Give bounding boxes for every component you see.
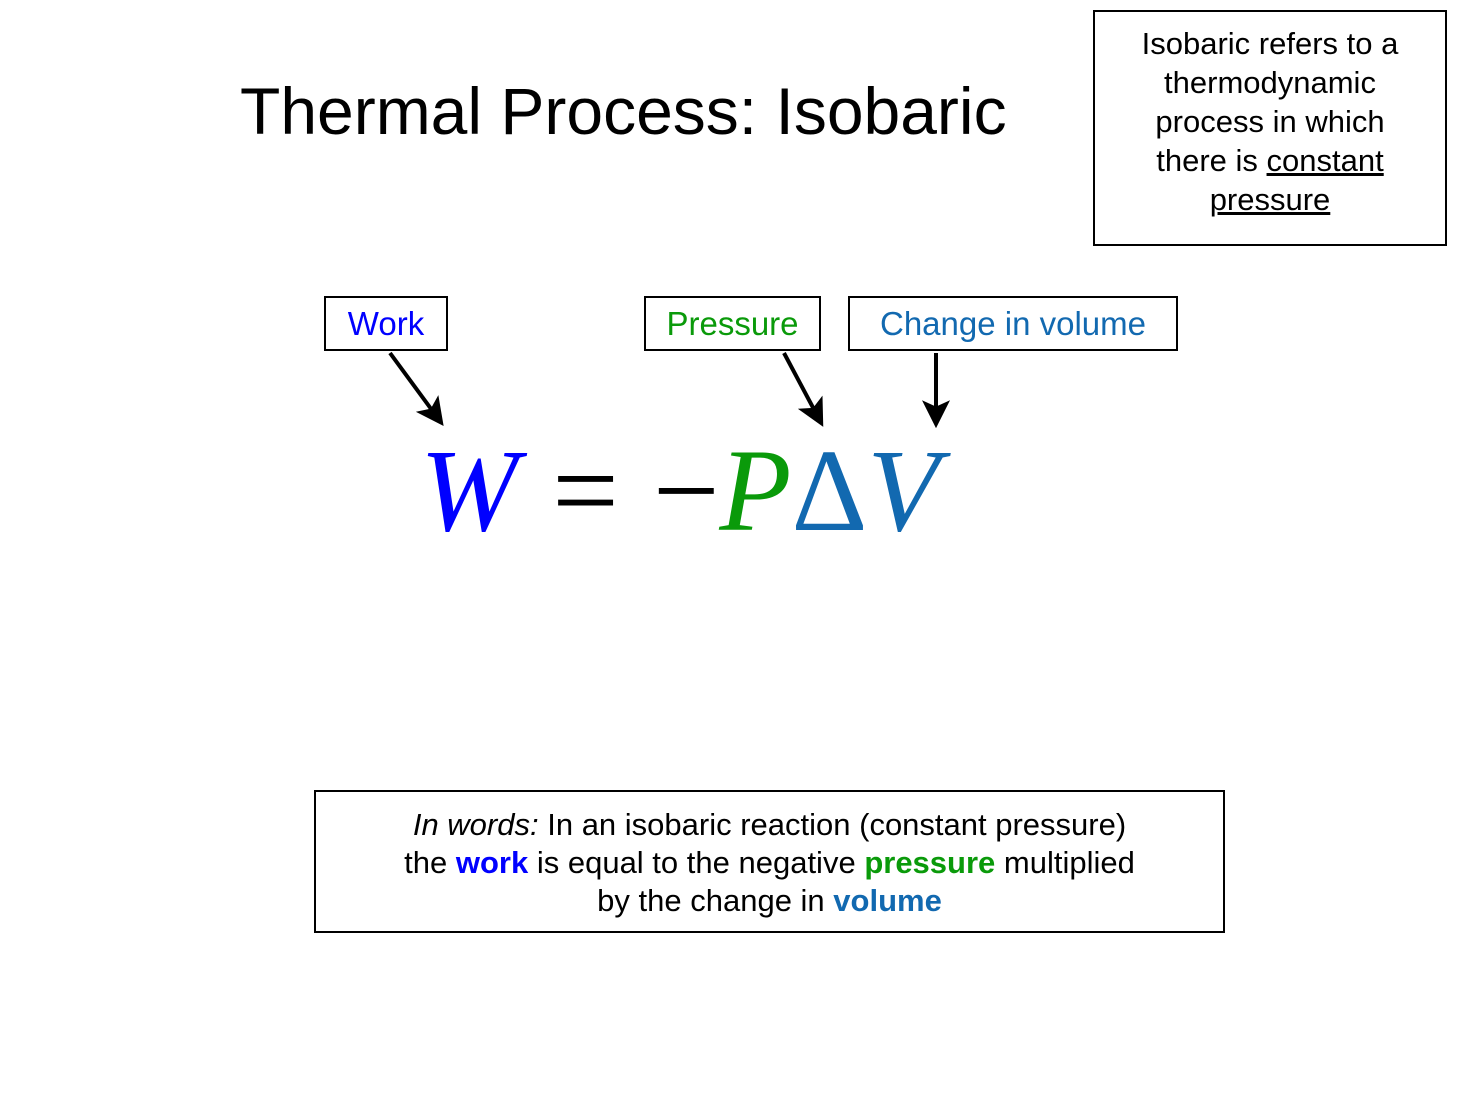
page-title: Thermal Process: Isobaric <box>240 72 1110 150</box>
equation-symbol-W: W <box>420 425 518 556</box>
arrow-pressure-to-P <box>784 353 818 417</box>
in-words-keyword-volume: volume <box>833 883 942 918</box>
in-words-line-3-a: by the change in <box>597 883 833 918</box>
in-words-lead: In words: <box>413 807 539 842</box>
label-text-pressure: Pressure <box>666 306 798 342</box>
equation-symbol-V: V <box>867 425 939 556</box>
equation-operator-equals: = <box>552 425 619 556</box>
equation-operator-minus: − <box>653 425 720 556</box>
in-words-line-2: the work is equal to the negative pressu… <box>316 844 1223 882</box>
definition-line-4: there is constant <box>1105 141 1435 180</box>
definition-keyword-pressure: pressure <box>1210 182 1331 217</box>
in-words-line-2-a: the <box>404 845 456 880</box>
label-box-pressure: Pressure <box>644 296 821 351</box>
definition-keyword-constant: constant <box>1267 143 1384 178</box>
definition-line-4-prefix: there is <box>1156 143 1266 178</box>
arrow-work-to-W <box>390 353 437 417</box>
definition-line-5: pressure <box>1105 180 1435 219</box>
equation-W-equals-minus-P-delta-V: W=−PΔV <box>420 432 1060 552</box>
equation-symbol-P: P <box>719 425 791 556</box>
definition-line-2: thermodynamic <box>1105 63 1435 102</box>
label-text-work: Work <box>348 306 424 342</box>
definition-line-1: Isobaric refers to a <box>1105 24 1435 63</box>
in-words-line-2-c: multiplied <box>995 845 1135 880</box>
in-words-line-1: In words: In an isobaric reaction (const… <box>316 806 1223 844</box>
label-text-change-in-volume: Change in volume <box>880 306 1146 342</box>
definition-line-3: process in which <box>1105 102 1435 141</box>
slide-canvas: Thermal Process: Isobaric Isobaric refer… <box>0 0 1460 1095</box>
definition-callout: Isobaric refers to a thermodynamic proce… <box>1093 10 1447 246</box>
label-box-change-in-volume: Change in volume <box>848 296 1178 351</box>
in-words-line-1-text: In an isobaric reaction (constant pressu… <box>539 807 1127 842</box>
equation-symbol-delta: Δ <box>792 425 868 556</box>
in-words-callout: In words: In an isobaric reaction (const… <box>314 790 1225 933</box>
label-box-work: Work <box>324 296 448 351</box>
in-words-line-2-b: is equal to the negative <box>528 845 864 880</box>
in-words-line-3: by the change in volume <box>316 882 1223 920</box>
in-words-keyword-pressure: pressure <box>864 845 995 880</box>
in-words-keyword-work: work <box>456 845 528 880</box>
